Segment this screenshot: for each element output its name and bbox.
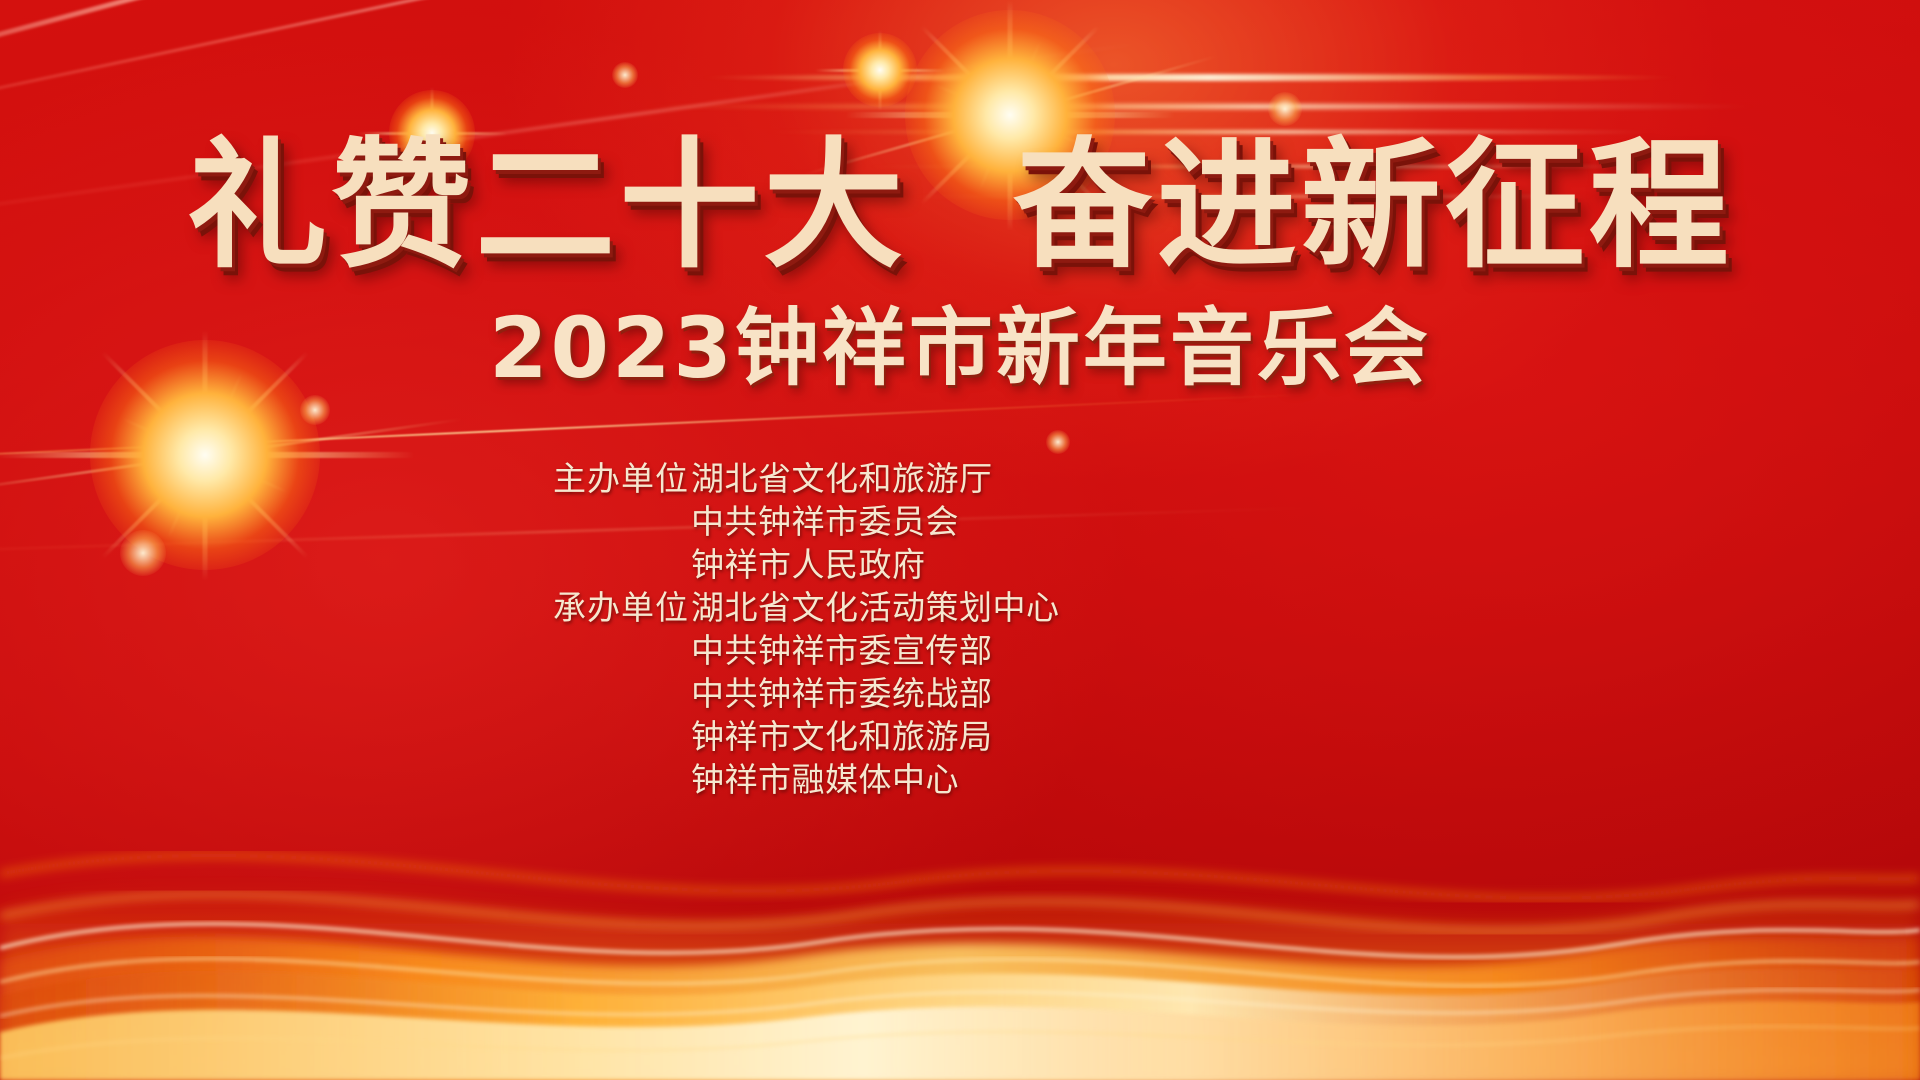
light-streak-icon [0, 0, 747, 37]
credits-block: 主办单位 湖北省文化和旅游厅 中共钟祥市委员会 钟祥市人民政府 承办单位 湖北省… [553, 457, 1273, 801]
organizer-label: 承办单位 [553, 586, 691, 629]
host-row: 中共钟祥市委员会 [553, 500, 1273, 543]
organizer-unit: 钟祥市融媒体中心 [691, 758, 1273, 801]
sparkle-icon [1046, 430, 1070, 454]
organizer-unit: 湖北省文化活动策划中心 [691, 586, 1273, 629]
poster-canvas: 礼赞二十大 奋进新征程 2023钟祥市新年音乐会 主办单位 湖北省文化和旅游厅 … [0, 0, 1920, 1080]
light-streak-icon [0, 0, 900, 101]
organizer-row: 中共钟祥市委宣传部 [553, 629, 1273, 672]
glow-band-icon [700, 74, 1680, 81]
sparkle-icon [612, 62, 638, 88]
sparkle-icon [1268, 92, 1302, 126]
sparkle-icon [120, 530, 166, 576]
sparkle-icon [300, 395, 330, 425]
organizer-unit: 中共钟祥市委宣传部 [691, 629, 1273, 672]
organizer-row: 中共钟祥市委统战部 [553, 672, 1273, 715]
organizer-row: 钟祥市文化和旅游局 [553, 715, 1273, 758]
host-unit: 钟祥市人民政府 [691, 543, 1273, 586]
host-row: 主办单位 湖北省文化和旅游厅 [553, 457, 1273, 500]
organizer-row: 承办单位 湖北省文化活动策划中心 [553, 586, 1273, 629]
glow-band-icon [640, 104, 1760, 109]
host-row: 钟祥市人民政府 [553, 543, 1273, 586]
page-title: 礼赞二十大 奋进新征程 [0, 132, 1920, 282]
host-unit: 中共钟祥市委员会 [691, 500, 1273, 543]
host-label: 主办单位 [553, 457, 691, 500]
organizer-row: 钟祥市融媒体中心 [553, 758, 1273, 801]
host-unit: 湖北省文化和旅游厅 [691, 457, 1273, 500]
organizer-unit: 中共钟祥市委统战部 [691, 672, 1273, 715]
page-subtitle: 2023钟祥市新年音乐会 [0, 300, 1920, 396]
organizer-unit: 钟祥市文化和旅游局 [691, 715, 1273, 758]
